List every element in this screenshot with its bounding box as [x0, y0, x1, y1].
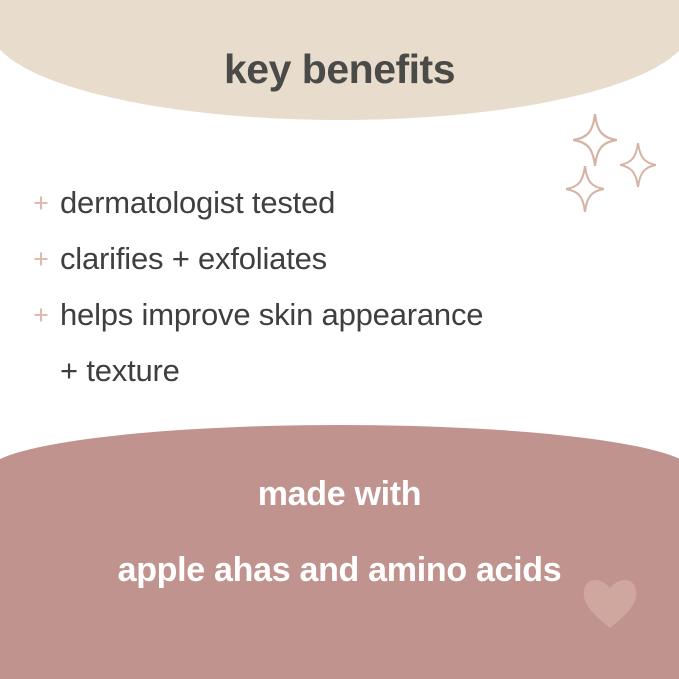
sparkle-large-icon	[573, 114, 617, 166]
benefit-label: clarifies + exfoliates	[60, 232, 327, 286]
benefit-label: dermatologist tested	[60, 176, 335, 230]
plus-icon: +	[22, 288, 60, 342]
page-title: key benefits	[0, 46, 679, 93]
plus-icon: +	[22, 232, 60, 286]
heart-icon	[578, 570, 642, 634]
plus-icon: +	[22, 176, 60, 230]
benefits-list: + dermatologist tested + clarifies + exf…	[22, 176, 662, 400]
list-item: + helps improve skin appearance	[22, 288, 662, 342]
benefit-label: + texture	[60, 344, 180, 398]
product-benefits-graphic: key benefits + dermatologist tested + cl…	[0, 0, 679, 679]
made-with-label: made with	[0, 475, 679, 514]
list-item: + clarifies + exfoliates	[22, 232, 662, 286]
list-item: + dermatologist tested	[22, 176, 662, 230]
list-item-continuation: + texture	[22, 344, 662, 398]
benefit-label: helps improve skin appearance	[60, 288, 483, 342]
